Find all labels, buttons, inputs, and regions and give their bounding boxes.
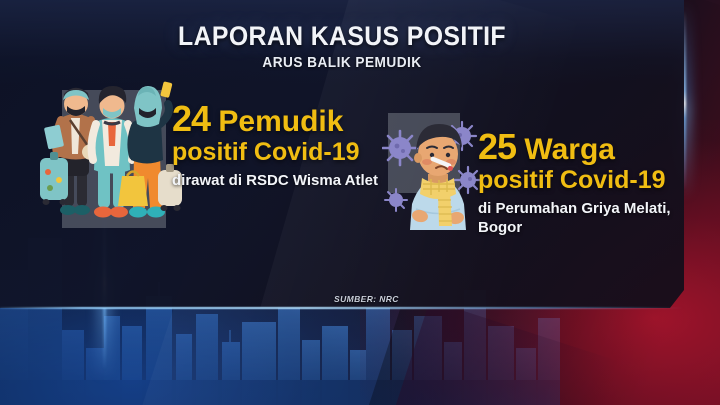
- stat-headline-warga: 25 Warga: [478, 128, 671, 166]
- stat-noun-pemudik: Pemudik: [218, 105, 343, 138]
- stat-block-pemudik: 24 Pemudik positif Covid-19 dirawat di R…: [172, 100, 378, 191]
- stat-number-warga: 25: [478, 126, 516, 167]
- panel-bottom-light-line: [0, 307, 684, 309]
- stat-detail-warga-line1: di Perumahan Griya Melati,: [478, 200, 671, 219]
- source-label: SUMBER: NRC: [334, 294, 399, 304]
- three-travelers-with-masks-and-luggage-icon: [34, 60, 184, 232]
- stat-block-warga: 25 Warga positif Covid-19 di Perumahan G…: [478, 128, 671, 238]
- sick-man-with-thermometer-and-virus-icon: [382, 108, 492, 230]
- stat-number-pemudik: 24: [172, 98, 210, 139]
- stat-headline-pemudik: 24 Pemudik: [172, 100, 378, 138]
- stat-detail-warga-line2: Bogor: [478, 219, 671, 238]
- stat-line2-warga: positif Covid-19: [478, 166, 671, 194]
- stat-detail-warga: di Perumahan Griya Melati, Bogor: [478, 200, 671, 238]
- stat-noun-warga: Warga: [524, 133, 615, 166]
- stat-line2-pemudik: positif Covid-19: [172, 138, 378, 166]
- stat-detail-pemudik: dirawat di RSDC Wisma Atlet: [172, 172, 378, 191]
- page-title: LAPORAN KASUS POSITIF: [27, 22, 656, 50]
- infographic-canvas: LAPORAN KASUS POSITIF ARUS BALIK PEMUDIK: [0, 0, 720, 405]
